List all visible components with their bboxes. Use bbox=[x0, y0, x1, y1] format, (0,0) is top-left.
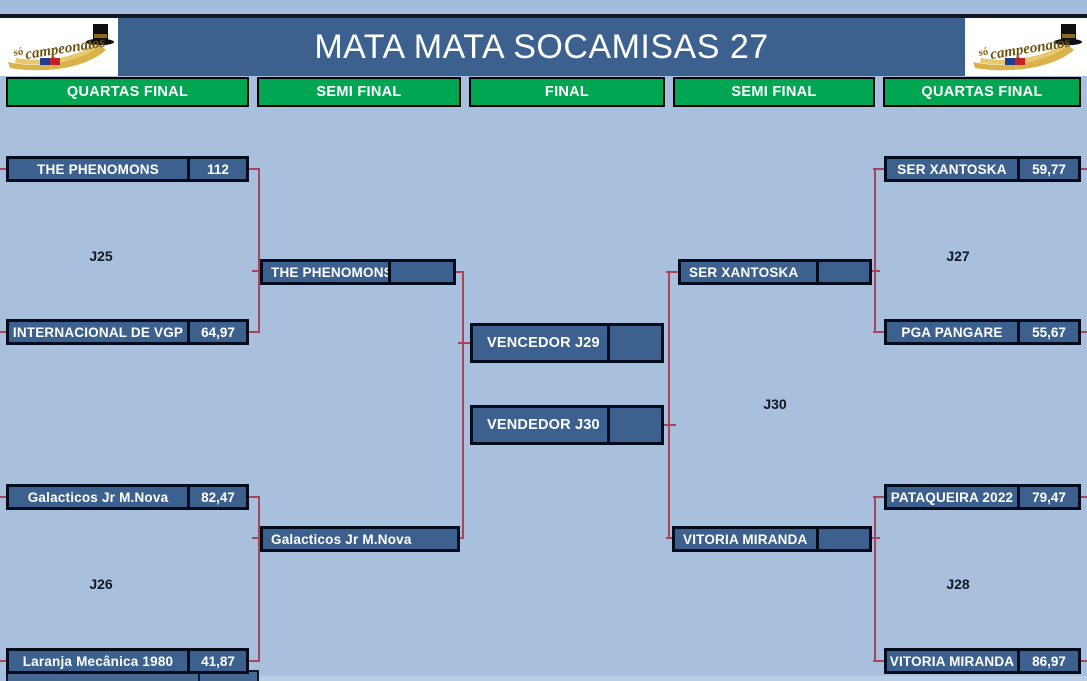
team-slot-semi-left-top[interactable]: THE PHENOMONS bbox=[260, 259, 456, 285]
round-header-quartas-final-right: QUARTAS FINAL bbox=[883, 77, 1081, 107]
match-id-j28: J28 bbox=[884, 576, 1032, 592]
team-name: INTERNACIONAL DE VGP bbox=[9, 322, 187, 342]
connector-final-j30-in bbox=[662, 424, 676, 426]
team-score: 82,47 bbox=[187, 487, 246, 507]
final-team-name: VENDEDOR J30 bbox=[473, 408, 607, 442]
team-slot-semi-right-bottom[interactable]: VITORIA MIRANDA bbox=[672, 526, 872, 552]
title-bar: só campeonatos MATA MATA SOCAMISAS 27 só bbox=[0, 18, 1087, 76]
page-title: MATA MATA SOCAMISAS 27 bbox=[118, 28, 965, 67]
team-name: THE PHENOMONS bbox=[9, 159, 187, 179]
top-strip bbox=[0, 0, 1087, 14]
team-score bbox=[816, 262, 869, 282]
bracket-page: só campeonatos MATA MATA SOCAMISAS 27 só bbox=[0, 0, 1087, 681]
connector-j25-vertical bbox=[258, 168, 260, 332]
team-slot-j25-top[interactable]: THE PHENOMONS 112 bbox=[6, 156, 249, 182]
team-slot-semi-right-top[interactable]: SER XANTOSKA bbox=[678, 259, 872, 285]
team-name: THE PHENOMONS bbox=[263, 262, 388, 282]
match-id-j26: J26 bbox=[6, 576, 196, 592]
team-name: SER XANTOSKA bbox=[681, 262, 816, 282]
team-name: Galacticos Jr M.Nova bbox=[263, 529, 457, 549]
final-team-score bbox=[607, 326, 661, 360]
round-header-semi-final-right: SEMI FINAL bbox=[673, 77, 875, 107]
team-slot-j27-top[interactable]: SER XANTOSKA 59,77 bbox=[884, 156, 1081, 182]
connector-right-semi-vertical bbox=[668, 271, 670, 538]
logo-right-icon: só campeonatos bbox=[965, 18, 1087, 76]
match-id-j30: J30 bbox=[700, 396, 850, 412]
team-slot-semi-left-bottom[interactable]: Galacticos Jr M.Nova bbox=[260, 526, 460, 552]
team-score: 112 bbox=[187, 159, 246, 179]
final-slot-vendedor-j30[interactable]: VENDEDOR J30 bbox=[470, 405, 664, 445]
connector-j26-vertical bbox=[258, 496, 260, 661]
final-team-score bbox=[607, 408, 661, 442]
match-id-j27: J27 bbox=[884, 248, 1032, 264]
team-name: Laranja Mecânica 1980 bbox=[9, 651, 187, 671]
team-slot-j26-bottom[interactable]: Laranja Mecânica 1980 41,87 bbox=[6, 648, 249, 674]
match-id-j25: J25 bbox=[6, 248, 196, 264]
team-score: 79,47 bbox=[1017, 487, 1078, 507]
team-score bbox=[388, 262, 453, 282]
team-score: 86,97 bbox=[1017, 651, 1078, 671]
team-name: Galacticos Jr M.Nova bbox=[9, 487, 187, 507]
so-campeonatos-logo-right: só campeonatos bbox=[965, 18, 1087, 76]
team-slot-j26-top[interactable]: Galacticos Jr M.Nova 82,47 bbox=[6, 484, 249, 510]
connector-j28-vertical bbox=[874, 496, 876, 661]
team-name: PATAQUEIRA 2022 bbox=[887, 487, 1017, 507]
so-campeonatos-logo-left: só campeonatos bbox=[0, 18, 118, 76]
final-team-name: VENCEDOR J29 bbox=[473, 326, 607, 360]
connector-left-semi-vertical bbox=[462, 271, 464, 538]
final-slot-vencedor-j29[interactable]: VENCEDOR J29 bbox=[470, 323, 664, 363]
team-slot-j25-bottom[interactable]: INTERNACIONAL DE VGP 64,97 bbox=[6, 319, 249, 345]
round-header-semi-final-left: SEMI FINAL bbox=[257, 77, 461, 107]
team-slot-j28-top[interactable]: PATAQUEIRA 2022 79,47 bbox=[884, 484, 1081, 510]
round-header-quartas-final-left: QUARTAS FINAL bbox=[6, 77, 249, 107]
team-score: 55,67 bbox=[1017, 322, 1078, 342]
connector-j27-vertical bbox=[874, 168, 876, 332]
team-score: 64,97 bbox=[187, 322, 246, 342]
logo-left-icon: só campeonatos bbox=[0, 18, 118, 76]
team-name: VITORIA MIRANDA bbox=[675, 529, 816, 549]
team-name: VITORIA MIRANDA bbox=[887, 651, 1017, 671]
team-name: PGA PANGARE bbox=[887, 322, 1017, 342]
team-slot-j28-bottom[interactable]: VITORIA MIRANDA 86,97 bbox=[884, 648, 1081, 674]
team-slot-j27-bottom[interactable]: PGA PANGARE 55,67 bbox=[884, 319, 1081, 345]
team-score bbox=[816, 529, 869, 549]
team-score: 41,87 bbox=[187, 651, 246, 671]
round-header-final: FINAL bbox=[469, 77, 665, 107]
team-score: 59,77 bbox=[1017, 159, 1078, 179]
team-name: SER XANTOSKA bbox=[887, 159, 1017, 179]
